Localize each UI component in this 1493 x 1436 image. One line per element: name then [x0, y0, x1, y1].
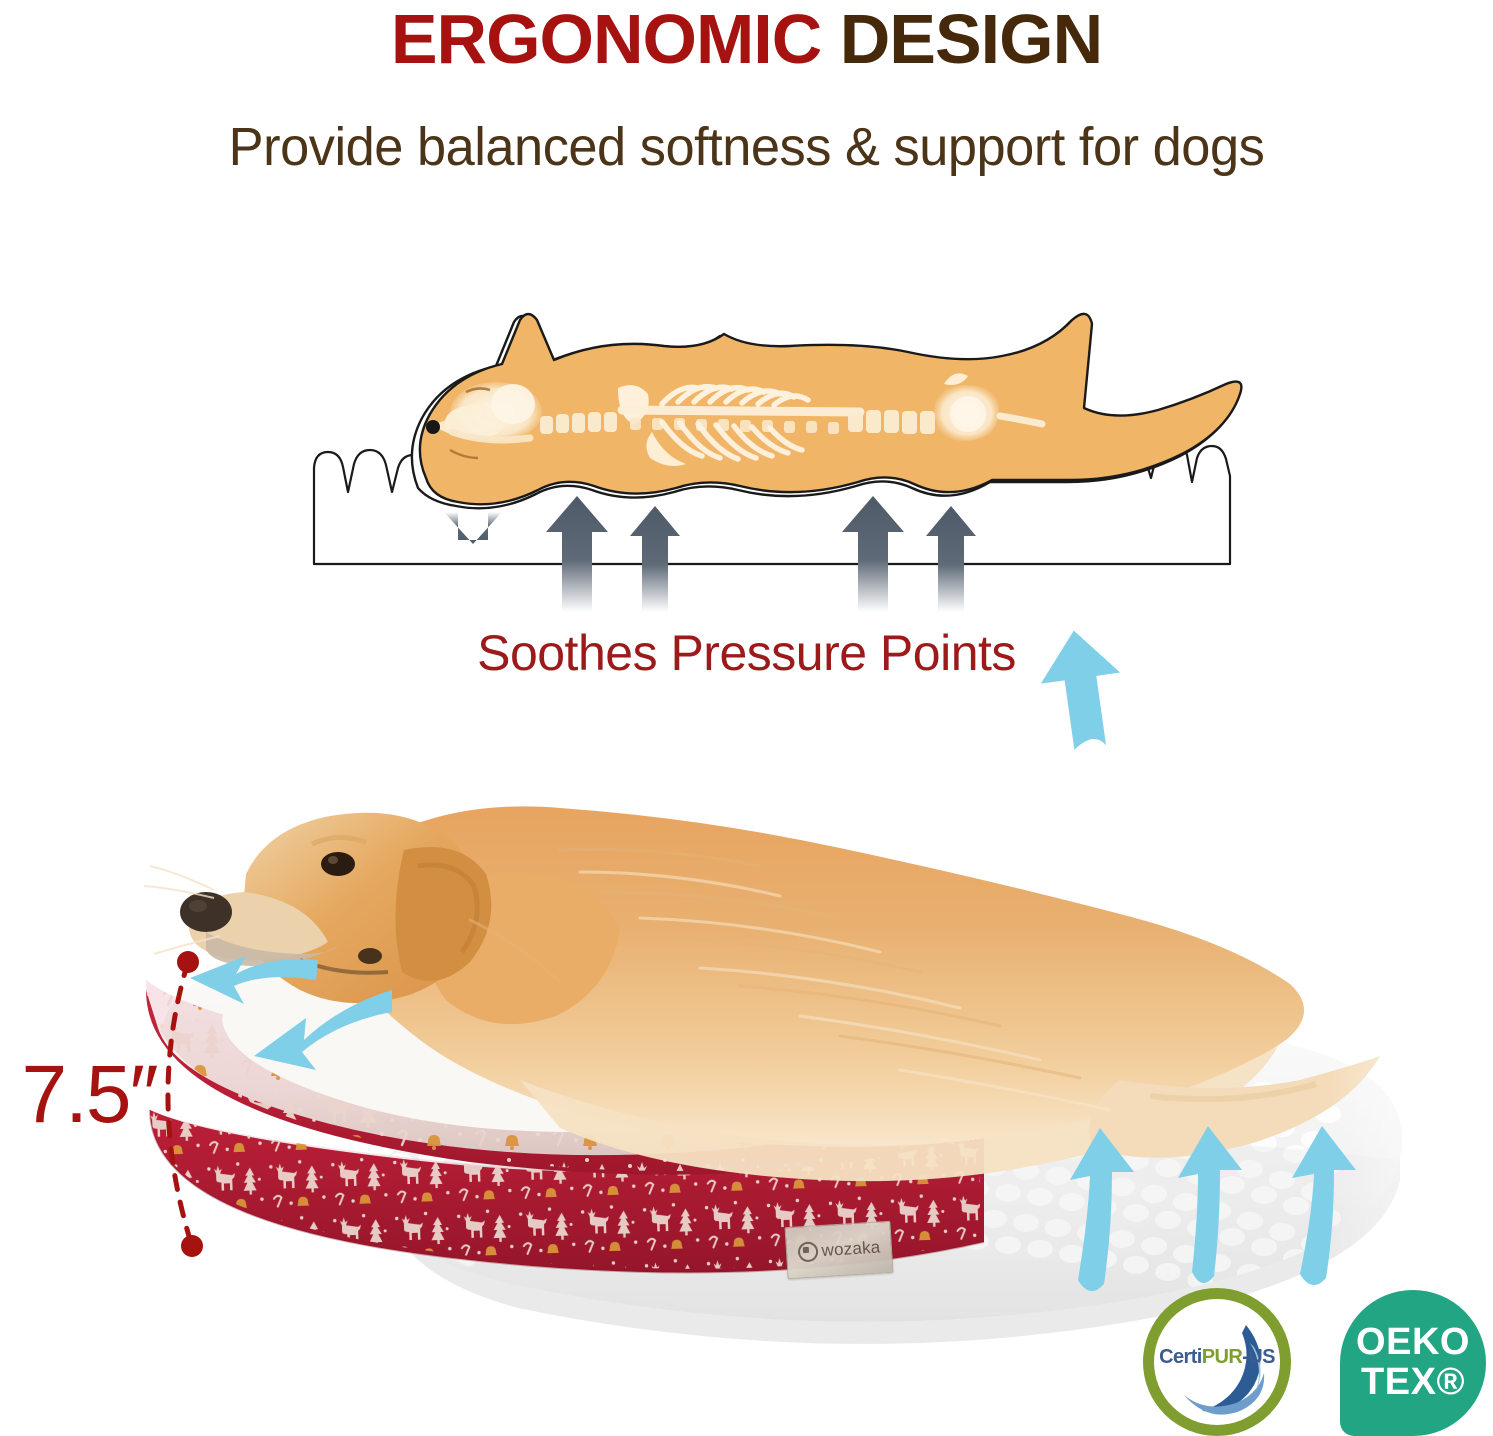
dog-eye	[321, 852, 355, 876]
oeko-tex-badge: OEKO TEX®	[1340, 1290, 1486, 1436]
dimension-dot-bottom	[181, 1235, 203, 1257]
title-word-ergonomic: ERGONOMIC	[391, 0, 840, 78]
oeko-line1: OEKO	[1356, 1323, 1470, 1363]
page-title: ERGONOMIC DESIGN	[0, 4, 1493, 75]
photo-right-fade	[1330, 660, 1493, 1360]
certipur-word-certi: Certi	[1159, 1346, 1202, 1368]
oeko-line2: TEX®	[1361, 1363, 1465, 1403]
brand-tag-label: wozaka	[821, 1237, 881, 1261]
dog-nose	[426, 420, 440, 434]
dimension-label: 7.5″	[0, 1048, 184, 1142]
certification-badges: CONTAINS CERTIFIED FLEXIBLE POLYURETHANE…	[1135, 1288, 1493, 1436]
certipur-us-badge: CONTAINS CERTIFIED FLEXIBLE POLYURETHANE…	[1143, 1288, 1291, 1436]
certipur-word-pur: PUR	[1202, 1346, 1242, 1368]
brand-logo-icon	[797, 1241, 818, 1262]
brand-tag: wozaka	[785, 1221, 894, 1279]
certipur-word-us: -US	[1242, 1346, 1275, 1368]
page-subtitle: Provide balanced softness & support for …	[22, 116, 1470, 178]
certipur-inner-disc: CertiPUR-US	[1154, 1299, 1280, 1425]
pressure-point-diagram	[300, 292, 1260, 612]
infographic-root: ERGONOMIC DESIGN Provide balanced softne…	[0, 0, 1493, 1436]
dog-nose-photo	[180, 892, 232, 932]
dimension-dot-top	[177, 951, 199, 973]
certipur-wordmark: CertiPUR-US	[1154, 1346, 1280, 1369]
title-word-design: DESIGN	[840, 0, 1102, 78]
diagram-svg	[300, 292, 1260, 612]
